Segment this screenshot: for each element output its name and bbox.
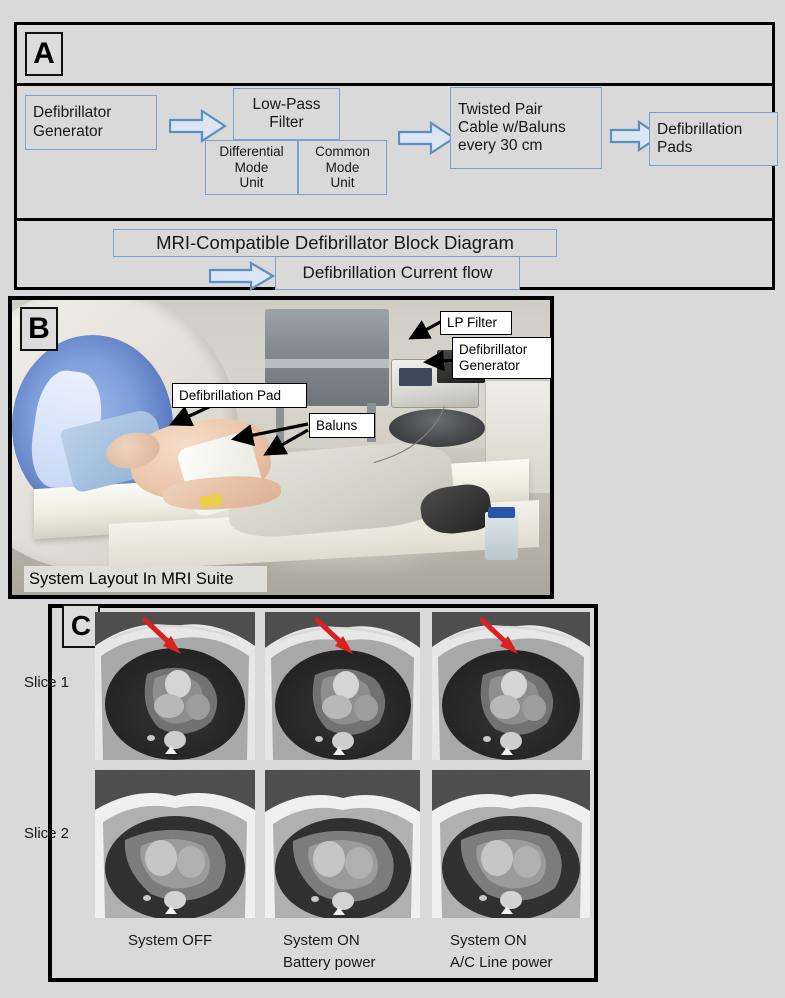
mri-image-slice2-system-off <box>95 770 255 918</box>
block-label-line2: Filter <box>269 114 303 132</box>
photo-label-lp-filter: LP Filter <box>440 311 512 335</box>
column-caption-line1: System ON <box>283 930 443 952</box>
panel-a-legend-label: Defibrillation Current flow <box>303 263 493 283</box>
panel-a-title: MRI-Compatible Defibrillator Block Diagr… <box>156 232 514 254</box>
column-caption-line1: System OFF <box>128 930 288 952</box>
slice-row-label-2: Slice 2 <box>24 822 90 844</box>
mri-image-slice1-system-on-battery <box>265 612 420 760</box>
block-defibrillator-generator: Defibrillator Generator <box>25 95 157 150</box>
panel-a-badge: A <box>25 32 63 76</box>
panel-a-divider-bottom <box>17 218 772 221</box>
column-caption-line1: System ON <box>450 930 610 952</box>
photo-label-text: Defibrillation Pad <box>179 388 300 404</box>
panel-a-divider-top <box>17 83 772 86</box>
red-arrow-icon <box>137 614 193 660</box>
block-label-line2: Mode <box>235 160 269 176</box>
block-arrow-right-icon <box>169 109 227 143</box>
photo-label-baluns: Baluns <box>309 413 375 438</box>
photo-label-text: Baluns <box>316 418 368 434</box>
block-label-line1: Twisted Pair <box>458 101 542 119</box>
column-caption-system-off: System OFF <box>128 930 288 952</box>
block-label-line1: Differential <box>219 144 283 160</box>
block-label-line1: Defibrillation <box>657 121 742 139</box>
panel-a-title-box: MRI-Compatible Defibrillator Block Diagr… <box>113 229 557 257</box>
mri-image-slice1-system-off <box>95 612 255 760</box>
mri-image-slice2-system-on-ac-line <box>432 770 590 918</box>
legend-block-arrow-right-icon <box>209 261 275 291</box>
block-low-pass-filter: Low-Pass Filter <box>233 88 340 140</box>
block-twisted-pair-cable: Twisted Pair Cable w/Baluns every 30 cm <box>450 87 602 169</box>
column-caption-line2: Battery power <box>283 952 443 974</box>
photo-label-text: LP Filter <box>447 315 505 331</box>
panel-b-badge: B <box>20 307 58 351</box>
photo-label-line1: Defibrillator <box>459 342 545 358</box>
block-arrow-right-icon <box>398 121 456 155</box>
block-label-line3: Unit <box>330 175 354 191</box>
red-arrow-icon <box>309 614 365 660</box>
mri-image-slice2-system-on-battery <box>265 770 420 918</box>
column-caption-system-on-ac-line: System ON A/C Line power <box>450 930 610 974</box>
block-label-line2: Cable w/Baluns <box>458 119 566 137</box>
block-common-mode-unit: Common Mode Unit <box>298 140 387 195</box>
block-label-line3: Unit <box>239 175 263 191</box>
column-caption-system-on-battery: System ON Battery power <box>283 930 443 974</box>
panel-b-caption-text: System Layout In MRI Suite <box>29 570 234 589</box>
panel-b-caption: System Layout In MRI Suite <box>24 566 267 592</box>
red-arrow-icon <box>474 614 530 660</box>
mri-image-slice1-system-on-ac-line <box>432 612 590 760</box>
block-label-line1: Low-Pass <box>252 96 320 114</box>
photo-label-defibrillation-pad: Defibrillation Pad <box>172 383 307 408</box>
block-label-line2: Mode <box>326 160 360 176</box>
panel-a: A Defibrillator Generator Low-Pass Filte… <box>14 22 775 290</box>
column-caption-line2: A/C Line power <box>450 952 610 974</box>
photo-label-defibrillator-generator: Defibrillator Generator <box>452 337 552 379</box>
panel-a-legend-box: Defibrillation Current flow <box>275 256 520 290</box>
block-label-line1: Common <box>315 144 370 160</box>
block-label-line3: every 30 cm <box>458 137 542 155</box>
block-defibrillation-pads: Defibrillation Pads <box>649 112 778 166</box>
block-differential-mode-unit: Differential Mode Unit <box>205 140 298 195</box>
photo-label-line2: Generator <box>459 358 545 374</box>
slice-row-label-1: Slice 1 <box>24 671 90 693</box>
block-label-line1: Defibrillator <box>33 104 111 122</box>
block-label-line2: Generator <box>33 123 103 141</box>
block-label-line2: Pads <box>657 139 692 157</box>
